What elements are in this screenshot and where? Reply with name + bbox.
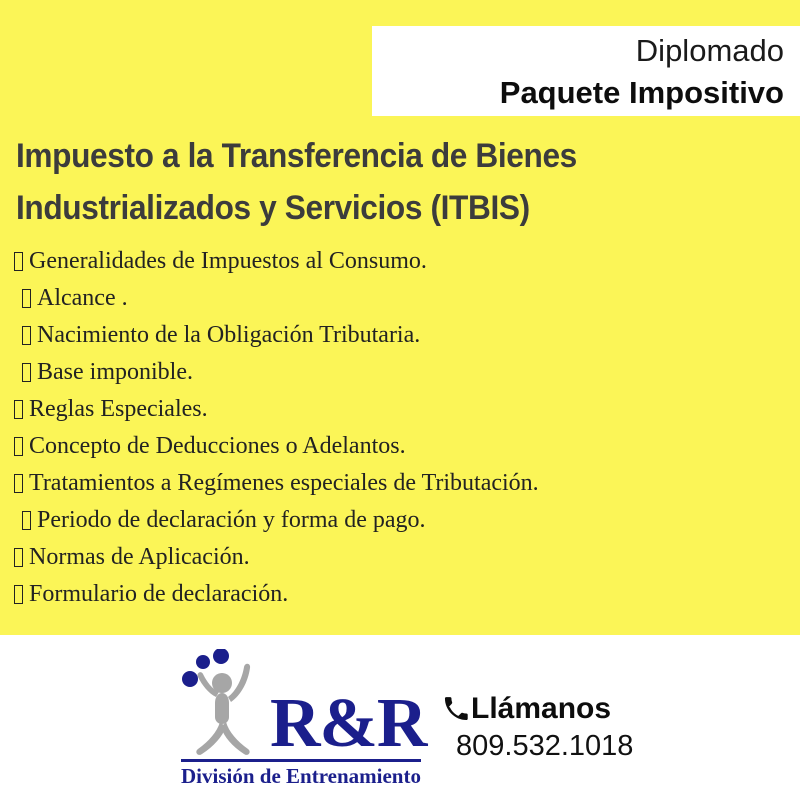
topic-item-label: Reglas Especiales.	[29, 396, 208, 422]
topic-item-label: Normas de Aplicación.	[29, 544, 250, 570]
logo-wordmark: R&R	[270, 693, 426, 755]
bullet-box-icon	[14, 548, 23, 567]
topic-item-label: Base imponible.	[37, 359, 193, 385]
bullet-box-icon	[14, 585, 23, 604]
topic-item-label: Concepto de Deducciones o Adelantos.	[29, 433, 406, 459]
topic-item: Nacimiento de la Obligación Tributaria.	[14, 317, 786, 354]
poster-canvas: Diplomado Paquete Impositivo Impuesto a …	[0, 0, 800, 800]
bullet-box-icon	[22, 326, 31, 345]
juggle-ball-1	[182, 671, 198, 687]
page-title-line-2: Industrializados y Servicios (ITBIS)	[16, 182, 723, 234]
contact-phone-number: 809.532.1018	[443, 727, 743, 765]
bullet-box-icon	[14, 437, 23, 456]
contact-cta-label: Llámanos	[471, 691, 611, 727]
bullet-box-icon	[14, 252, 23, 271]
bullet-box-icon	[22, 363, 31, 382]
topic-item: Alcance .	[14, 280, 786, 317]
header-kicker: Diplomado	[372, 30, 784, 72]
contact-block: Llámanos 809.532.1018	[443, 691, 743, 765]
juggler-figure-icon	[176, 649, 268, 761]
topic-item: Tratamientos a Regímenes especiales de T…	[14, 465, 786, 502]
topic-item-label: Tratamientos a Regímenes especiales de T…	[29, 470, 539, 496]
page-title-line-1: Impuesto a la Transferencia de Bienes	[16, 130, 723, 182]
bullet-box-icon	[22, 511, 31, 530]
logo-tagline: División de Entrenamiento	[180, 763, 422, 789]
topic-item: Generalidades de Impuestos al Consumo.	[14, 243, 786, 280]
topic-item: Formulario de declaración.	[14, 576, 786, 613]
footer: R&R División de Entrenamiento Llámanos 8…	[0, 635, 800, 800]
topic-item-label: Generalidades de Impuestos al Consumo.	[29, 248, 427, 274]
bullet-box-icon	[22, 289, 31, 308]
topic-item-label: Alcance .	[37, 285, 128, 311]
topic-item: Periodo de declaración y forma de pago.	[14, 502, 786, 539]
topic-list: Generalidades de Impuestos al Consumo.Al…	[14, 243, 786, 613]
topic-item-label: Periodo de declaración y forma de pago.	[37, 507, 426, 533]
topic-item: Concepto de Deducciones o Adelantos.	[14, 428, 786, 465]
bullet-box-icon	[14, 400, 23, 419]
topic-item-label: Nacimiento de la Obligación Tributaria.	[37, 322, 420, 348]
bullet-box-icon	[14, 474, 23, 493]
page-title: Impuesto a la Transferencia de Bienes In…	[16, 130, 723, 234]
logo-divider	[181, 759, 421, 762]
header-badge: Diplomado Paquete Impositivo	[372, 26, 800, 116]
topic-item: Reglas Especiales.	[14, 391, 786, 428]
header-title: Paquete Impositivo	[372, 72, 784, 114]
phone-icon	[443, 696, 469, 722]
brand-logo: R&R División de Entrenamiento	[176, 649, 421, 779]
topic-item-label: Formulario de declaración.	[29, 581, 288, 607]
juggle-ball-2	[196, 655, 210, 669]
topic-item: Normas de Aplicación.	[14, 539, 786, 576]
contact-cta: Llámanos	[443, 691, 743, 727]
topic-item: Base imponible.	[14, 354, 786, 391]
juggle-ball-3	[213, 649, 229, 664]
